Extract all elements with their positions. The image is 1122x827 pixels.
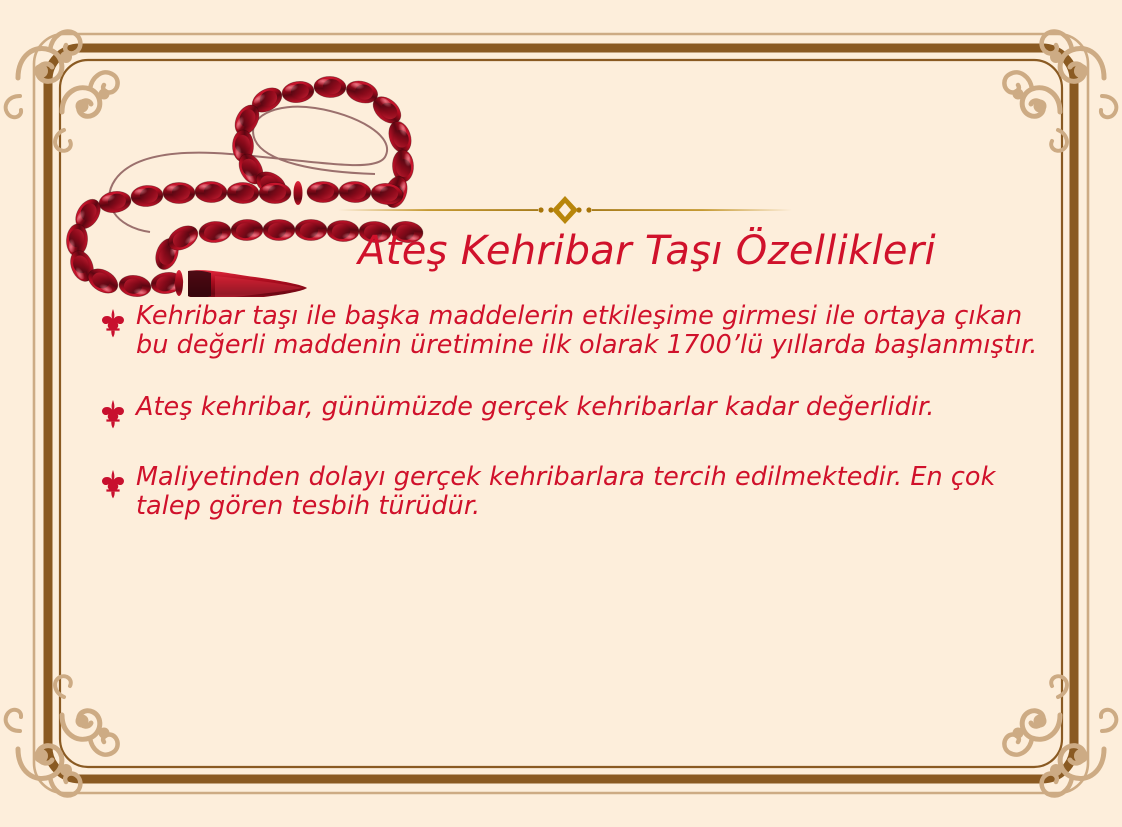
corner-ornament-bottom-left (6, 676, 118, 795)
fleur-de-lis-icon (100, 469, 126, 499)
list-item: Ateş kehribar, günümüzde gerçek kehribar… (100, 393, 1060, 429)
imame-tassel (175, 270, 307, 297)
list-item-text: Ateş kehribar, günümüzde gerçek kehribar… (136, 393, 1060, 422)
list-item: Maliyetinden dolayı gerçek kehribarlara … (100, 463, 1060, 520)
bead-spacer (294, 181, 303, 205)
divider-dot (586, 207, 591, 212)
corner-ornament-bottom-right (1004, 676, 1116, 795)
list-item-text: Maliyetinden dolayı gerçek kehribarlara … (136, 463, 1060, 520)
divider-ornament (330, 190, 800, 230)
list-item: Kehribar taşı ile başka maddelerin etkil… (100, 302, 1060, 359)
fleur-de-lis-icon (100, 399, 126, 429)
feature-list: Kehribar taşı ile başka maddelerin etkil… (100, 302, 1060, 546)
divider-dot (538, 207, 543, 212)
list-item-text: Kehribar taşı ile başka maddelerin etkil… (136, 302, 1060, 359)
fleur-de-lis-icon (100, 308, 126, 338)
corner-ornament-top-right (1004, 32, 1116, 151)
divider-line-left (338, 209, 538, 211)
page-title: Ateş Kehribar Taşı Özellikleri (0, 228, 1122, 274)
certificate-page: Ateş Kehribar Taşı Özellikleri Kehribar … (0, 0, 1122, 827)
divider-line-right (592, 209, 792, 211)
